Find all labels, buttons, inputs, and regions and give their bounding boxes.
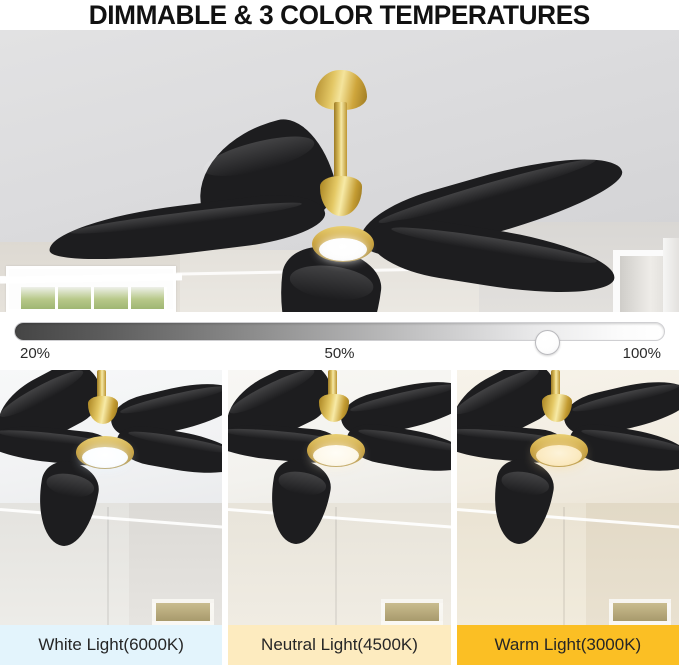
caption-neutral-light-label: Neutral Light(4500K) bbox=[261, 635, 418, 655]
panel-white-light bbox=[0, 370, 222, 625]
panel-wall-corner bbox=[107, 507, 109, 625]
brightness-slider-labels: 20% 50% 100% bbox=[0, 345, 679, 367]
slider-label-max: 100% bbox=[623, 345, 661, 362]
panel-ceiling bbox=[228, 370, 450, 515]
window-pane bbox=[94, 287, 131, 309]
caption-warm-light-label: Warm Light(3000K) bbox=[494, 635, 641, 655]
panel-window-frame bbox=[609, 599, 671, 625]
dimmer-slider-section: 20% 50% 100% bbox=[0, 312, 679, 370]
color-temperature-panels bbox=[0, 370, 679, 625]
panel-window-frame bbox=[152, 599, 214, 625]
panel-neutral-light bbox=[228, 370, 450, 625]
page-title-bar: DIMMABLE & 3 COLOR TEMPERATURES bbox=[0, 0, 679, 30]
caption-white-light-label: White Light(6000K) bbox=[38, 635, 184, 655]
panel-wall-corner bbox=[563, 507, 565, 625]
caption-white-light: White Light(6000K) bbox=[0, 625, 222, 665]
hero-window bbox=[6, 266, 176, 312]
panel-window-frame bbox=[381, 599, 443, 625]
hero-wall-middle bbox=[180, 250, 510, 312]
caption-neutral-light: Neutral Light(4500K) bbox=[228, 625, 450, 665]
panel-wall-corner bbox=[335, 507, 337, 625]
window-pane bbox=[21, 287, 58, 309]
caption-warm-light: Warm Light(3000K) bbox=[457, 625, 679, 665]
panel-ceiling bbox=[457, 370, 679, 515]
hero-product-image bbox=[0, 30, 679, 312]
window-pane bbox=[58, 287, 95, 309]
brightness-slider-track[interactable] bbox=[14, 322, 665, 341]
slider-label-mid: 50% bbox=[0, 345, 679, 362]
hero-door-frame-edge bbox=[663, 238, 679, 312]
panel-ceiling bbox=[0, 370, 222, 515]
panel-warm-light bbox=[457, 370, 679, 625]
window-pane bbox=[131, 287, 168, 309]
hero-window-glass bbox=[21, 287, 167, 309]
color-temperature-captions: White Light(6000K) Neutral Light(4500K) … bbox=[0, 625, 679, 665]
page-title: DIMMABLE & 3 COLOR TEMPERATURES bbox=[89, 0, 590, 31]
